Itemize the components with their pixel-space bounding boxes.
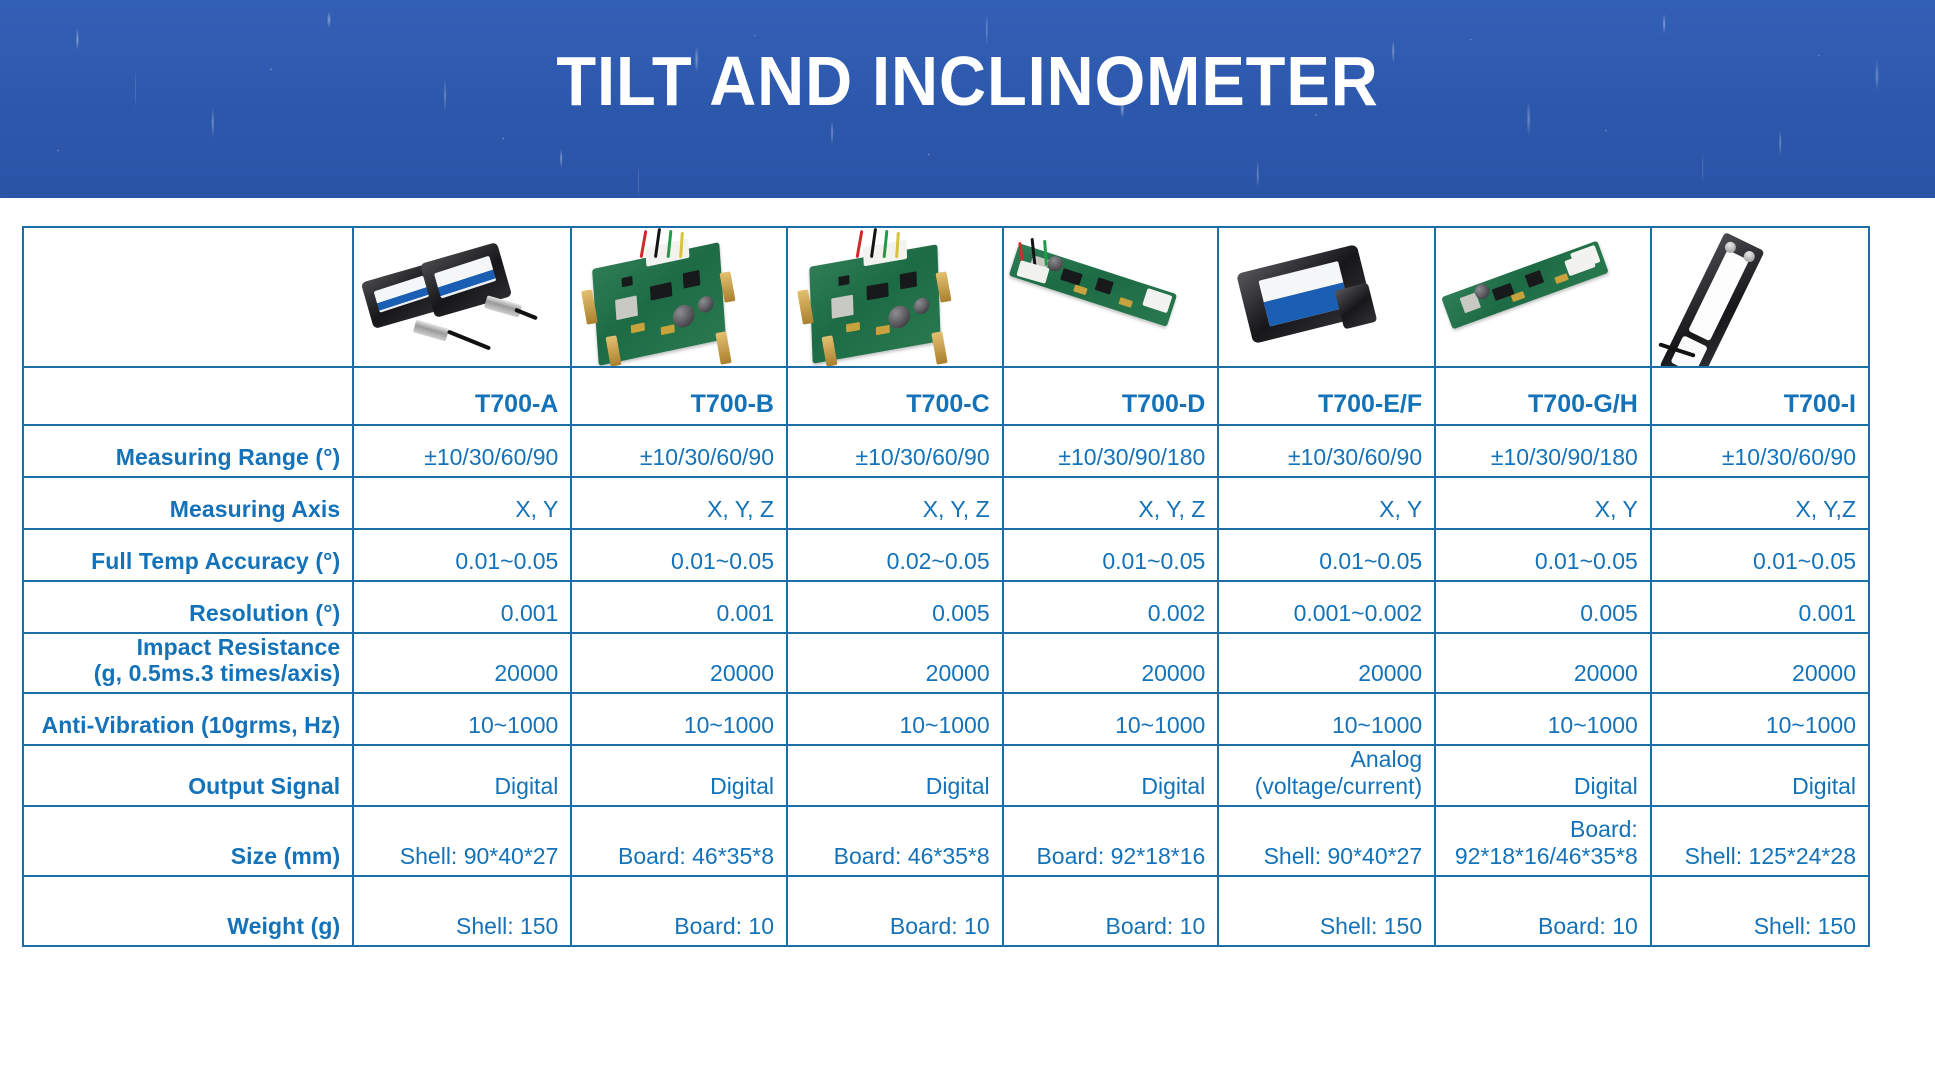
model-row-corner: [23, 367, 353, 425]
spec-value: Shell: 150: [1218, 876, 1435, 946]
table-row: Size (mm)Shell: 90*40*27Board: 46*35*8Bo…: [23, 806, 1869, 876]
spec-value: 0.001~0.002: [1218, 581, 1435, 633]
spec-value: Board: 92*18*16: [1003, 806, 1219, 876]
spec-value: 0.005: [1435, 581, 1651, 633]
spec-value: ±10/30/60/90: [787, 425, 1003, 477]
spec-value: Digital: [1435, 745, 1651, 805]
row-label-line: (g, 0.5ms.3 times/axis): [36, 660, 340, 686]
product-image-t700-b: [572, 228, 786, 366]
spec-value: 0.001: [1651, 581, 1869, 633]
spec-value: Digital: [787, 745, 1003, 805]
table-row: Measuring AxisX, YX, Y, ZX, Y, ZX, Y, ZX…: [23, 477, 1869, 529]
corner-cell: [23, 227, 353, 367]
model-name: T700-D: [1003, 367, 1219, 425]
spec-value: ±10/30/60/90: [571, 425, 787, 477]
spec-value: 0.001: [571, 581, 787, 633]
spec-value: X, Y, Z: [571, 477, 787, 529]
product-image-row: [23, 227, 1869, 367]
product-image-cell: [353, 227, 571, 367]
table-row: Full Temp Accuracy (°)0.01~0.050.01~0.05…: [23, 529, 1869, 581]
product-image-t700-i: [1652, 228, 1868, 366]
row-label-line: Full Temp Accuracy (°): [36, 548, 340, 574]
spec-value: X, Y, Z: [1003, 477, 1219, 529]
row-label-line: Anti-Vibration (10grms, Hz): [36, 712, 340, 738]
spec-value: 0.01~0.05: [1003, 529, 1219, 581]
spec-value: 10~1000: [1218, 693, 1435, 745]
page-root: TILT AND INCLINOMETER T700-AT700-BT700-C…: [0, 0, 1935, 1085]
row-label-line: Output Signal: [36, 773, 340, 799]
spec-value: 20000: [787, 633, 1003, 693]
product-image-cell: [1651, 227, 1869, 367]
page-banner: TILT AND INCLINOMETER: [0, 0, 1935, 198]
spec-value: 20000: [571, 633, 787, 693]
spec-value: 0.001: [353, 581, 571, 633]
product-image-t700-a: [354, 228, 570, 366]
row-label: Anti-Vibration (10grms, Hz): [23, 693, 353, 745]
product-image-cell: [787, 227, 1003, 367]
spec-value: 0.01~0.05: [1218, 529, 1435, 581]
spec-value-line: Board:: [1448, 816, 1638, 842]
spec-value: Shell: 125*24*28: [1651, 806, 1869, 876]
product-image-t700-e-f: [1219, 228, 1434, 366]
spec-value: X, Y: [1218, 477, 1435, 529]
spec-value: Board: 10: [571, 876, 787, 946]
spec-value: 0.01~0.05: [571, 529, 787, 581]
spec-value: 10~1000: [353, 693, 571, 745]
spec-value: 20000: [1003, 633, 1219, 693]
spec-table: T700-AT700-BT700-CT700-DT700-E/FT700-G/H…: [22, 226, 1870, 947]
model-name: T700-I: [1651, 367, 1869, 425]
row-label-line: Resolution (°): [36, 600, 340, 626]
model-name: T700-B: [571, 367, 787, 425]
spec-value: 0.005: [787, 581, 1003, 633]
spec-value: Shell: 90*40*27: [1218, 806, 1435, 876]
row-label: Full Temp Accuracy (°): [23, 529, 353, 581]
spec-value: X, Y: [1435, 477, 1651, 529]
product-image-t700-c: [788, 228, 1002, 366]
spec-value: ±10/30/60/90: [1218, 425, 1435, 477]
spec-value-line: Analog: [1231, 746, 1422, 772]
spec-value: X, Y,Z: [1651, 477, 1869, 529]
model-name: T700-G/H: [1435, 367, 1651, 425]
table-row: Resolution (°)0.0010.0010.0050.0020.001~…: [23, 581, 1869, 633]
spec-value: 0.01~0.05: [353, 529, 571, 581]
product-image-t700-d: [1004, 228, 1218, 366]
row-label: Size (mm): [23, 806, 353, 876]
product-image-t700-g-h: [1436, 228, 1650, 366]
row-label: Resolution (°): [23, 581, 353, 633]
table-row: Impact Resistance(g, 0.5ms.3 times/axis)…: [23, 633, 1869, 693]
spec-value: Digital: [1651, 745, 1869, 805]
spec-value: 0.002: [1003, 581, 1219, 633]
spec-value: 0.01~0.05: [1651, 529, 1869, 581]
spec-value: X, Y, Z: [787, 477, 1003, 529]
spec-value: 10~1000: [1003, 693, 1219, 745]
spec-value-line: (voltage/current): [1231, 773, 1422, 799]
model-name: T700-C: [787, 367, 1003, 425]
spec-value: Board: 46*35*8: [571, 806, 787, 876]
model-name: T700-E/F: [1218, 367, 1435, 425]
spec-value: Digital: [1003, 745, 1219, 805]
row-label: Measuring Axis: [23, 477, 353, 529]
table-row: Measuring Range (°)±10/30/60/90±10/30/60…: [23, 425, 1869, 477]
spec-value: Board:92*18*16/46*35*8: [1435, 806, 1651, 876]
spec-value: ±10/30/60/90: [1651, 425, 1869, 477]
table-row: Output SignalDigitalDigitalDigitalDigita…: [23, 745, 1869, 805]
spec-value: ±10/30/90/180: [1003, 425, 1219, 477]
page-title: TILT AND INCLINOMETER: [68, 46, 1868, 116]
spec-value: Board: 10: [787, 876, 1003, 946]
row-label-line: Weight (g): [36, 913, 340, 939]
row-label: Output Signal: [23, 745, 353, 805]
spec-value: 10~1000: [571, 693, 787, 745]
spec-value: ±10/30/90/180: [1435, 425, 1651, 477]
spec-value: 10~1000: [1435, 693, 1651, 745]
row-label-line: Measuring Range (°): [36, 444, 340, 470]
row-label: Measuring Range (°): [23, 425, 353, 477]
spec-value: Board: 10: [1435, 876, 1651, 946]
spec-value: Digital: [571, 745, 787, 805]
spec-value: ±10/30/60/90: [353, 425, 571, 477]
table-row: Weight (g)Shell: 150Board: 10Board: 10Bo…: [23, 876, 1869, 946]
spec-value: 0.01~0.05: [1435, 529, 1651, 581]
row-label-line: Size (mm): [36, 843, 340, 869]
row-label: Weight (g): [23, 876, 353, 946]
table-row: Anti-Vibration (10grms, Hz)10~100010~100…: [23, 693, 1869, 745]
spec-value: 20000: [1651, 633, 1869, 693]
spec-value: 10~1000: [787, 693, 1003, 745]
spec-value-line: 92*18*16/46*35*8: [1448, 843, 1638, 869]
spec-value: 20000: [353, 633, 571, 693]
row-label-line: Impact Resistance: [36, 634, 340, 660]
spec-value: X, Y: [353, 477, 571, 529]
row-label-line: Measuring Axis: [36, 496, 340, 522]
spec-value: 0.02~0.05: [787, 529, 1003, 581]
spec-table-wrapper: T700-AT700-BT700-CT700-DT700-E/FT700-G/H…: [22, 226, 1870, 947]
spec-value: 20000: [1218, 633, 1435, 693]
model-name: T700-A: [353, 367, 571, 425]
spec-value: Shell: 90*40*27: [353, 806, 571, 876]
spec-value: Analog(voltage/current): [1218, 745, 1435, 805]
spec-value: Board: 46*35*8: [787, 806, 1003, 876]
model-header-row: T700-AT700-BT700-CT700-DT700-E/FT700-G/H…: [23, 367, 1869, 425]
spec-value: Shell: 150: [353, 876, 571, 946]
product-image-cell: [571, 227, 787, 367]
spec-value: 10~1000: [1651, 693, 1869, 745]
spec-value: Digital: [353, 745, 571, 805]
spec-value: Shell: 150: [1651, 876, 1869, 946]
product-image-cell: [1218, 227, 1435, 367]
spec-table-body: T700-AT700-BT700-CT700-DT700-E/FT700-G/H…: [23, 227, 1869, 946]
row-label: Impact Resistance(g, 0.5ms.3 times/axis): [23, 633, 353, 693]
spec-value: Board: 10: [1003, 876, 1219, 946]
product-image-cell: [1435, 227, 1651, 367]
spec-value: 20000: [1435, 633, 1651, 693]
product-image-cell: [1003, 227, 1219, 367]
